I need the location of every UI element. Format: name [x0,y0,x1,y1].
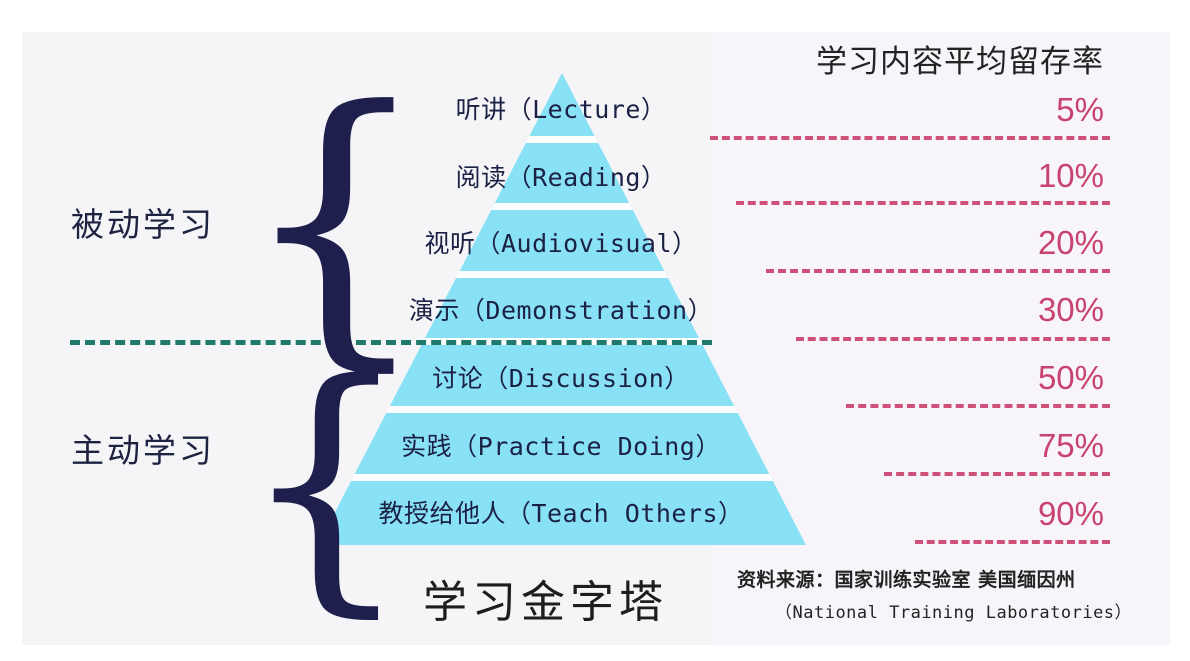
retention-dash-3 [766,269,1110,273]
infographic-canvas: 听讲（Lecture） 阅读（Reading） 视听（Audiovisual） … [0,0,1190,661]
tier-label-teach-others: 教授给他人（Teach Others） [378,501,743,526]
retention-value-teach-others: 90% [1038,495,1104,533]
retention-value-audiovisual: 20% [1038,224,1104,262]
page-title: 学习金字塔 [423,566,668,630]
brace-active: { [240,348,412,618]
retention-value-reading: 10% [1038,157,1104,195]
retention-dash-4 [796,337,1110,341]
retention-value-demonstration: 30% [1038,291,1104,329]
tier-label-lecture: 听讲（Lecture） [456,97,667,122]
retention-dash-6 [884,472,1110,476]
group-label-passive: 被动学习 [71,198,215,246]
tier-label-demonstration: 演示（Demonstration） [409,298,713,323]
retention-value-discussion: 50% [1038,359,1104,397]
retention-dash-7 [915,540,1110,544]
retention-dash-2 [736,201,1110,205]
tier-label-reading: 阅读（Reading） [456,165,667,190]
tier-label-audiovisual: 视听（Audiovisual） [424,231,697,256]
retention-rate-header: 学习内容平均留存率 [816,36,1104,81]
retention-value-lecture: 5% [1056,91,1104,129]
retention-value-practice: 75% [1038,427,1104,465]
tier-label-practice: 实践（Practice Doing） [401,434,721,459]
source-attribution-cn: 资料来源：国家训练实验室 美国缅因州 [737,565,1076,592]
retention-dash-5 [846,404,1110,408]
tier-label-discussion: 讨论（Discussion） [432,366,690,391]
group-label-active: 主动学习 [71,424,215,472]
source-attribution-en: （National Training Laboratories） [775,598,1132,623]
retention-dash-1 [710,136,1110,140]
